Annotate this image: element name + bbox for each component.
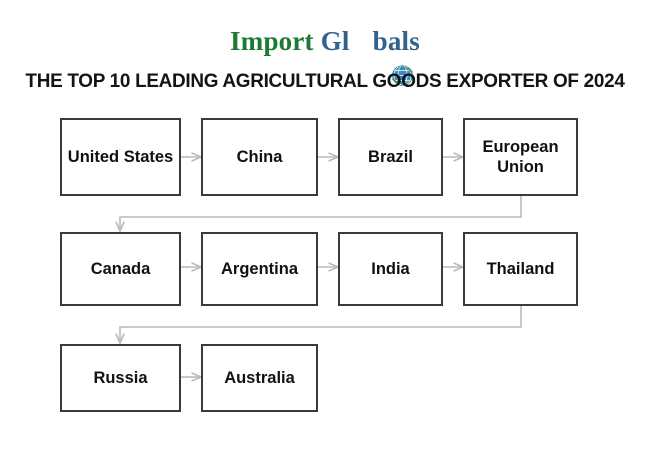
flow-node-argentina[interactable]: Argentina (201, 232, 318, 306)
flow-node-label: China (237, 147, 283, 167)
flow-node-label: European Union (469, 137, 572, 177)
flow-node-label: Canada (91, 259, 151, 279)
flow-node-label: Australia (224, 368, 295, 388)
flow-node-china[interactable]: China (201, 118, 318, 196)
flow-node-australia[interactable]: Australia (201, 344, 318, 412)
flow-node-brazil[interactable]: Brazil (338, 118, 443, 196)
flow-node-canada[interactable]: Canada (60, 232, 181, 306)
flow-node-european-union[interactable]: European Union (463, 118, 578, 196)
flow-chart: United States China Brazil European Unio… (0, 0, 650, 450)
flow-node-label: Brazil (368, 147, 413, 167)
flow-node-russia[interactable]: Russia (60, 344, 181, 412)
flow-node-label: Thailand (487, 259, 555, 279)
flow-node-india[interactable]: India (338, 232, 443, 306)
flow-node-label: Russia (93, 368, 147, 388)
flow-node-united-states[interactable]: United States (60, 118, 181, 196)
flow-node-label: Argentina (221, 259, 298, 279)
flow-node-thailand[interactable]: Thailand (463, 232, 578, 306)
flow-node-label: India (371, 259, 410, 279)
flow-node-label: United States (68, 147, 173, 167)
